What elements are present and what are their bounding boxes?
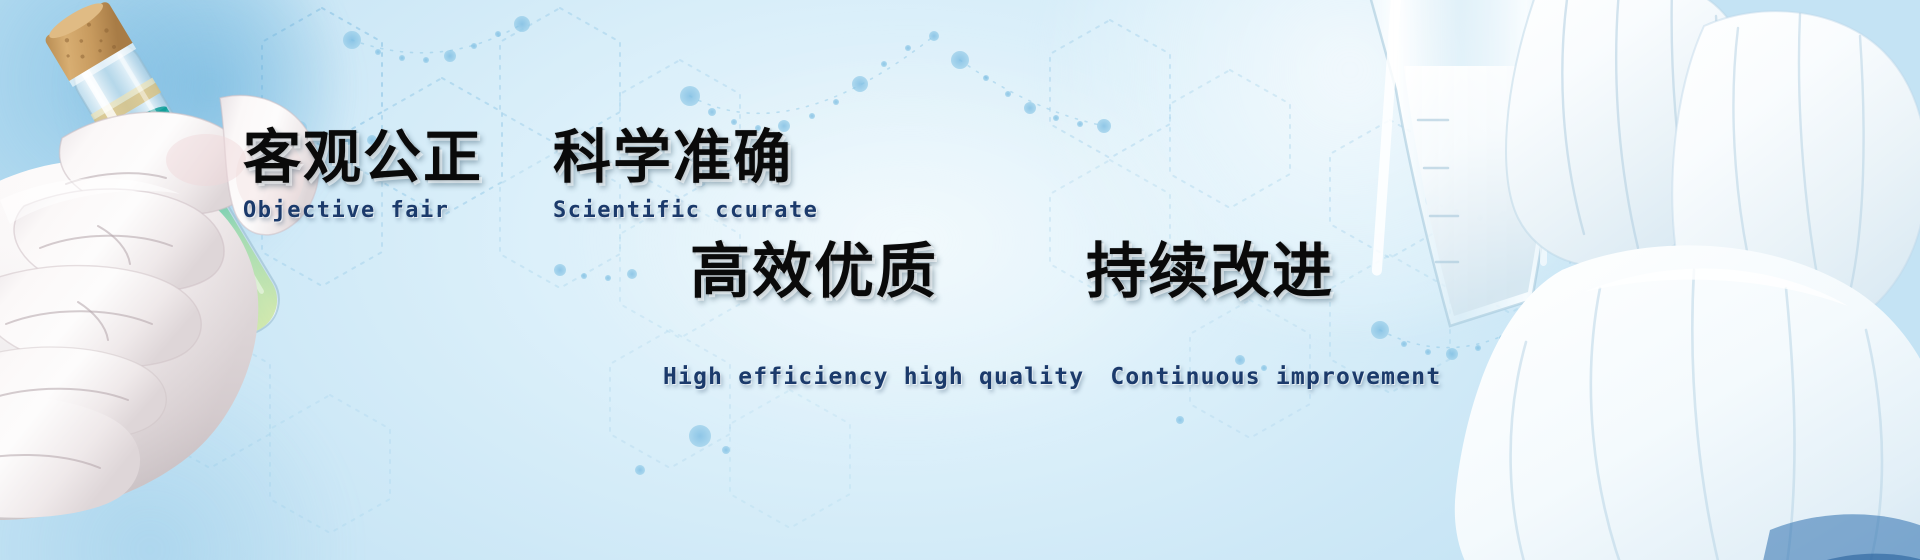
slogan-cn-scientific-accurate: 科学准确: [553, 128, 818, 189]
background-glow-bottom-left: [0, 360, 360, 560]
slogan-en-high-efficiency: High efficiency high quality: [663, 364, 1084, 390]
slogan-row-bottom-en: High efficiency high qualityContinuous i…: [663, 364, 1441, 390]
slogan-en-scientific-accurate: Scientific ccurate: [553, 198, 818, 223]
quality-policy-banner: 客观公正 Objective fair 科学准确 Scientific ccur…: [0, 0, 1920, 560]
gloved-hand-test-tube-image: [0, 0, 400, 560]
slogan-row-bottom-cn: 高效优质持续改进: [690, 240, 1334, 303]
beaker-powder-image: [1300, 0, 1920, 560]
slogan-en-objective-fair: Objective fair: [243, 198, 483, 223]
slogan-cn-high-efficiency: 高效优质: [690, 238, 938, 305]
slogan-objective-fair: 客观公正 Objective fair: [243, 128, 483, 223]
slogan-cn-continuous-improvement: 持续改进: [1086, 238, 1334, 305]
slogan-row-top: 客观公正 Objective fair 科学准确 Scientific ccur…: [243, 128, 818, 223]
slogan-en-continuous-improvement: Continuous improvement: [1110, 364, 1441, 390]
slogan-cn-objective-fair: 客观公正: [243, 128, 483, 189]
slogan-scientific-accurate: 科学准确 Scientific ccurate: [553, 128, 818, 223]
